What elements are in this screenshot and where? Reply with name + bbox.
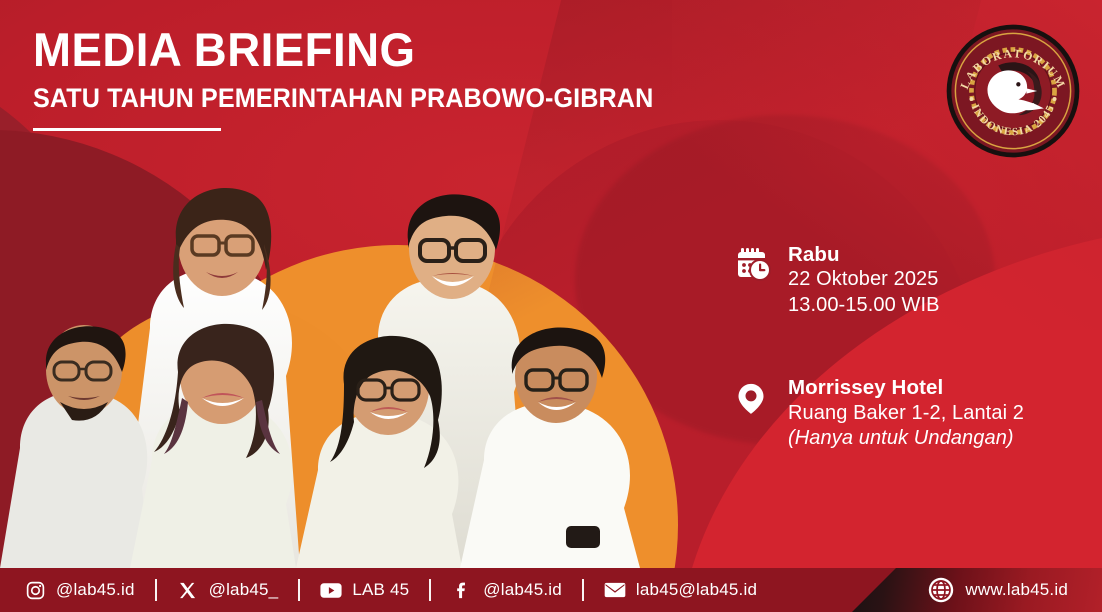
venue-note: (Hanya untuk Undangan) bbox=[788, 426, 1024, 452]
venue-block: Morrissey Hotel Ruang Baker 1-2, Lantai … bbox=[736, 376, 1024, 451]
instagram-icon bbox=[24, 579, 46, 601]
person-front-center bbox=[296, 336, 462, 568]
venue-text: Morrissey Hotel Ruang Baker 1-2, Lantai … bbox=[788, 376, 1024, 451]
title-underline-rule bbox=[33, 128, 221, 131]
footer-website-label: www.lab45.id bbox=[965, 580, 1068, 600]
date-block: Rabu 22 Oktober 2025 13.00-15.00 WIB bbox=[736, 243, 1024, 318]
footer-youtube[interactable]: LAB 45 bbox=[320, 579, 409, 601]
footer-separator bbox=[429, 579, 431, 601]
footer-separator bbox=[155, 579, 157, 601]
event-day: Rabu bbox=[788, 243, 940, 267]
person-front-far-left bbox=[0, 325, 150, 568]
email-icon bbox=[604, 579, 626, 601]
group-photo bbox=[0, 148, 700, 568]
event-details: Rabu 22 Oktober 2025 13.00-15.00 WIB Mor… bbox=[736, 243, 1024, 452]
footer-items: @lab45.id @lab45_ L bbox=[0, 577, 1102, 603]
x-twitter-icon bbox=[177, 579, 199, 601]
footer-website[interactable]: www.lab45.id bbox=[928, 577, 1068, 603]
youtube-icon bbox=[320, 579, 342, 601]
laboratorium-indonesia-2045-logo: LABORATORIUM INDONESIA 2045 bbox=[946, 24, 1080, 158]
social-footer: @lab45.id @lab45_ L bbox=[0, 568, 1102, 612]
footer-facebook-label: @lab45.id bbox=[483, 580, 562, 600]
footer-email-label: lab45@lab45.id bbox=[636, 580, 757, 600]
footer-x[interactable]: @lab45_ bbox=[177, 579, 279, 601]
header: MEDIA BRIEFING SATU TAHUN PEMERINTAHAN P… bbox=[33, 26, 686, 131]
footer-youtube-label: LAB 45 bbox=[352, 580, 409, 600]
footer-separator bbox=[298, 579, 300, 601]
page-title: MEDIA BRIEFING bbox=[33, 26, 666, 75]
venue-room: Ruang Baker 1-2, Lantai 2 bbox=[788, 401, 1024, 427]
footer-email[interactable]: lab45@lab45.id bbox=[604, 579, 757, 601]
footer-facebook[interactable]: @lab45.id bbox=[451, 579, 562, 601]
footer-separator bbox=[582, 579, 584, 601]
event-banner: MEDIA BRIEFING SATU TAHUN PEMERINTAHAN P… bbox=[0, 0, 1102, 612]
footer-x-label: @lab45_ bbox=[209, 580, 279, 600]
footer-instagram[interactable]: @lab45.id bbox=[24, 579, 135, 601]
event-time: 13.00-15.00 WIB bbox=[788, 293, 940, 319]
calendar-clock-icon bbox=[736, 243, 772, 287]
map-pin-icon bbox=[736, 376, 772, 422]
globe-icon bbox=[928, 577, 954, 603]
footer-instagram-label: @lab45.id bbox=[56, 580, 135, 600]
venue-name: Morrissey Hotel bbox=[788, 376, 1024, 400]
date-text: Rabu 22 Oktober 2025 13.00-15.00 WIB bbox=[788, 243, 940, 318]
facebook-icon bbox=[451, 579, 473, 601]
page-subtitle: SATU TAHUN PEMERINTAHAN PRABOWO-GIBRAN bbox=[33, 83, 653, 114]
event-date: 22 Oktober 2025 bbox=[788, 267, 940, 293]
